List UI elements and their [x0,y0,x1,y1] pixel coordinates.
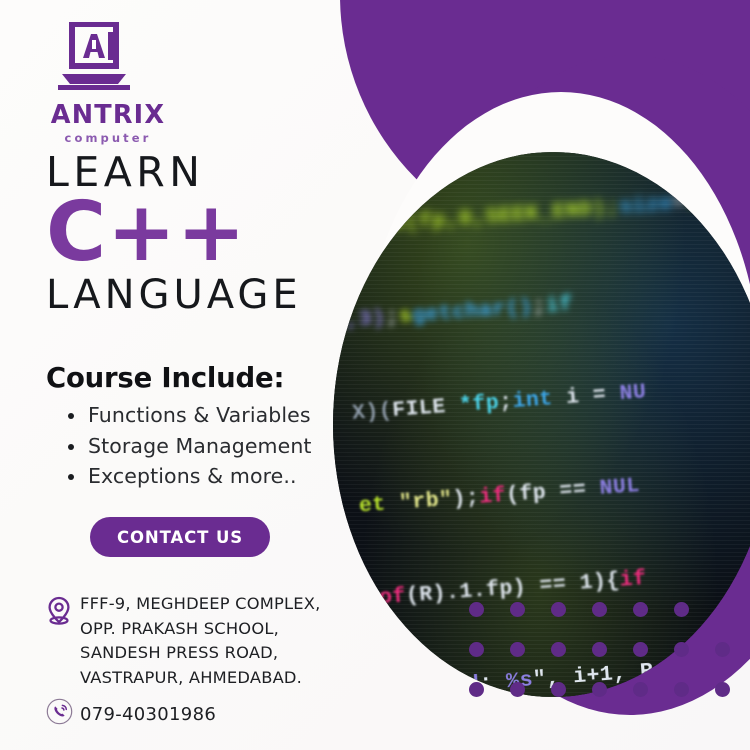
headline-line-2: C++ [46,190,247,276]
address-line: VASTRAPUR, AHMEDABAD. [80,666,321,691]
list-item: Storage Management [66,431,312,462]
course-include-list: Functions & Variables Storage Management… [66,400,312,492]
address-line: FFF-9, MEGHDEEP COMPLEX, [80,592,321,617]
course-include-title: Course Include: [46,362,284,394]
contact-us-button[interactable]: CONTACT US [90,517,270,557]
address-line: OPP. PRAKASH SCHOOL, [80,617,321,642]
brand-name: ANTRIX [44,100,172,130]
list-item: Exceptions & more.. [66,461,312,492]
brand-tagline: computer [44,131,172,145]
phone-row[interactable]: 079-40301986 [46,698,366,730]
address-line: SANDESH PRESS ROAD, [80,641,321,666]
poster-canvas: fseek(fp,0,SEEK_END);size=ftell(fp); ,3)… [0,0,750,750]
decorative-dot-grid [469,602,750,722]
phone-call-icon [46,698,80,730]
address-row: FFF-9, MEGHDEEP COMPLEX, OPP. PRAKASH SC… [46,592,366,690]
address-text: FFF-9, MEGHDEEP COMPLEX, OPP. PRAKASH SC… [80,592,321,690]
location-pin-icon [46,592,80,631]
computer-monitor-icon [56,22,134,94]
phone-number: 079-40301986 [80,704,216,725]
headline-line-3: LANGUAGE [46,272,302,318]
contact-block: FFF-9, MEGHDEEP COMPLEX, OPP. PRAKASH SC… [46,592,366,730]
list-item: Functions & Variables [66,400,312,431]
brand-logo[interactable]: ANTRIX computer [44,22,174,145]
